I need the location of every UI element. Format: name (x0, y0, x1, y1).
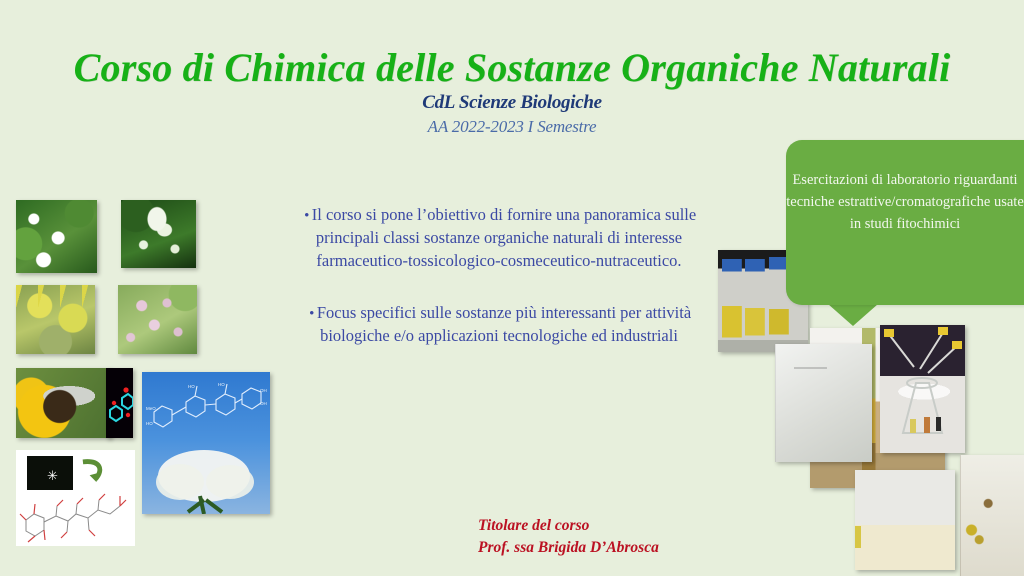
svg-text:MeO: MeO (146, 406, 156, 411)
page-title: Corso di Chimica delle Sostanze Organich… (0, 44, 1024, 91)
bullet-item-2-text: Focus specifici sulle sostanze più inter… (317, 303, 691, 345)
academic-year-subtitle: AA 2022-2023 I Semestre (0, 117, 1024, 137)
test-tube-rack-photo-surface (855, 470, 955, 570)
svg-text:HO: HO (188, 384, 195, 389)
lab-practice-callout-text: Esercitazioni di laboratorio riguardanti… (786, 170, 1024, 235)
yellow-flower-plant-photo-surface (16, 285, 95, 354)
flask-pipettes-icon (880, 325, 965, 453)
instructor-credit: Titolare del corso Prof. ssa Brigida D’A… (478, 515, 778, 560)
instructor-name-label: Prof. ssa Brigida D’Abrosca (478, 537, 778, 559)
separatory-flask-photo (880, 325, 965, 453)
molecule-structure-card: ✳ (16, 450, 135, 546)
separatory-flask-photo-surface (880, 325, 965, 453)
svg-text:HO: HO (146, 421, 153, 426)
lab-practice-callout: Esercitazioni di laboratorio riguardanti… (786, 140, 1024, 305)
daisy-flowers-photo (16, 200, 97, 273)
course-program-subtitle: CdL Scienze Biologiche (0, 92, 1024, 114)
callout-tail-icon (828, 304, 878, 326)
slide-canvas: Corso di Chimica delle Sostanze Organich… (0, 0, 1024, 576)
molecule-3d-icon (106, 368, 133, 438)
tlc-developed-plate-photo (960, 455, 1024, 576)
molecule-skeleton-icon (16, 490, 135, 546)
bullet-marker: • (302, 206, 312, 227)
test-tube-rack-photo (855, 470, 955, 570)
white-spike-flower-photo-surface (121, 200, 196, 268)
yellow-flower-plant-photo (16, 285, 95, 354)
chemical-structure-sky-photo-surface: MeOHO HOHO OHOH (142, 372, 270, 514)
tlc-plate-paper-photo-surface (775, 344, 872, 462)
transformation-arrow-icon (78, 458, 109, 487)
course-description: •Il corso si pone l’obiettivo di fornire… (283, 204, 715, 348)
bullet-item-1: •Il corso si pone l’obiettivo di fornire… (283, 204, 715, 272)
bullet-item-2: •Focus specifici sulle sostanze più inte… (283, 302, 715, 348)
bullet-item-1-text: Il corso si pone l’obiettivo di fornire … (312, 205, 696, 270)
svg-text:OH: OH (260, 388, 267, 393)
bee-on-flower-photo (16, 368, 111, 438)
chemical-structure-icon: MeOHO HOHO OHOH (142, 372, 270, 514)
pink-flower-plant-photo-surface (118, 285, 197, 354)
daisy-flowers-photo-surface (16, 200, 97, 273)
svg-text:OH: OH (260, 401, 267, 406)
bullet-marker: • (307, 304, 317, 325)
tlc-plate-paper-photo (775, 344, 872, 462)
molecule-3d-model-photo (106, 368, 133, 438)
tlc-developed-plate-photo-surface (960, 455, 1024, 576)
pink-flower-plant-photo (118, 285, 197, 354)
white-flower-icon: ✳ (47, 469, 58, 482)
instructor-role-label: Titolare del corso (478, 515, 778, 537)
svg-text:HO: HO (218, 382, 225, 387)
white-spike-flower-photo (121, 200, 196, 268)
chemical-structure-sky-photo: MeOHO HOHO OHOH (142, 372, 270, 514)
bee-on-flower-photo-surface (16, 368, 111, 438)
molecule-3d-model-photo-surface (106, 368, 133, 438)
